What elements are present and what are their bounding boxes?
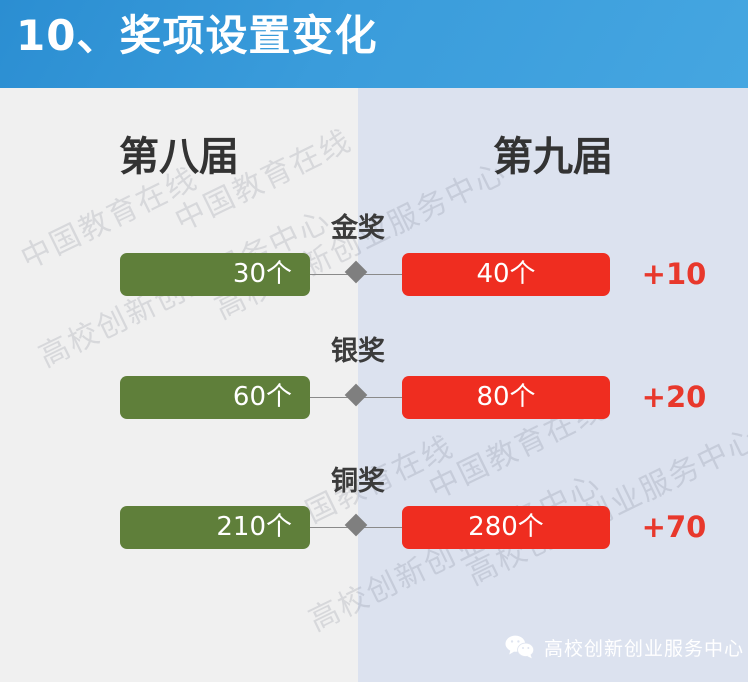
- connector: [310, 525, 402, 531]
- page-title: 10、奖项设置变化: [16, 11, 377, 61]
- diamond-icon: [345, 384, 368, 407]
- slide-header: 10、奖项设置变化: [0, 0, 748, 88]
- new-value-bar: 40个: [402, 253, 610, 296]
- old-value-bar: 30个: [120, 253, 310, 296]
- old-value-bar: 210个: [120, 506, 310, 549]
- brand-footer: 高校创新创业服务中心: [505, 629, 744, 665]
- diamond-icon: [345, 514, 368, 537]
- column-heading-left: 第八届: [0, 124, 358, 182]
- comparison-row: 金奖 30个 40个 +10: [0, 215, 748, 307]
- connector: [310, 272, 402, 278]
- slide-root: 10、奖项设置变化 中国教育在线 高校创新创业服务中心 中国教育在线 高校创新创…: [0, 0, 748, 682]
- comparison-row: 铜奖 210个 280个 +70: [0, 468, 748, 560]
- delta-badge: +70: [626, 510, 722, 545]
- delta-badge: +10: [626, 257, 722, 292]
- award-label: 银奖: [278, 338, 438, 365]
- connector: [310, 395, 402, 401]
- old-value-bar: 60个: [120, 376, 310, 419]
- new-value-bar: 280个: [402, 506, 610, 549]
- award-label: 金奖: [278, 215, 438, 242]
- comparison-board: 中国教育在线 高校创新创业服务中心 中国教育在线 高校创新创业服务中心 中国教育…: [0, 88, 748, 682]
- column-heading-right: 第九届: [358, 124, 748, 182]
- diamond-icon: [345, 261, 368, 284]
- brand-name: 高校创新创业服务中心: [544, 634, 744, 661]
- comparison-row: 银奖 60个 80个 +20: [0, 338, 748, 430]
- wechat-icon: [505, 634, 535, 660]
- award-label: 铜奖: [278, 468, 438, 495]
- new-value-bar: 80个: [402, 376, 610, 419]
- delta-badge: +20: [626, 380, 722, 415]
